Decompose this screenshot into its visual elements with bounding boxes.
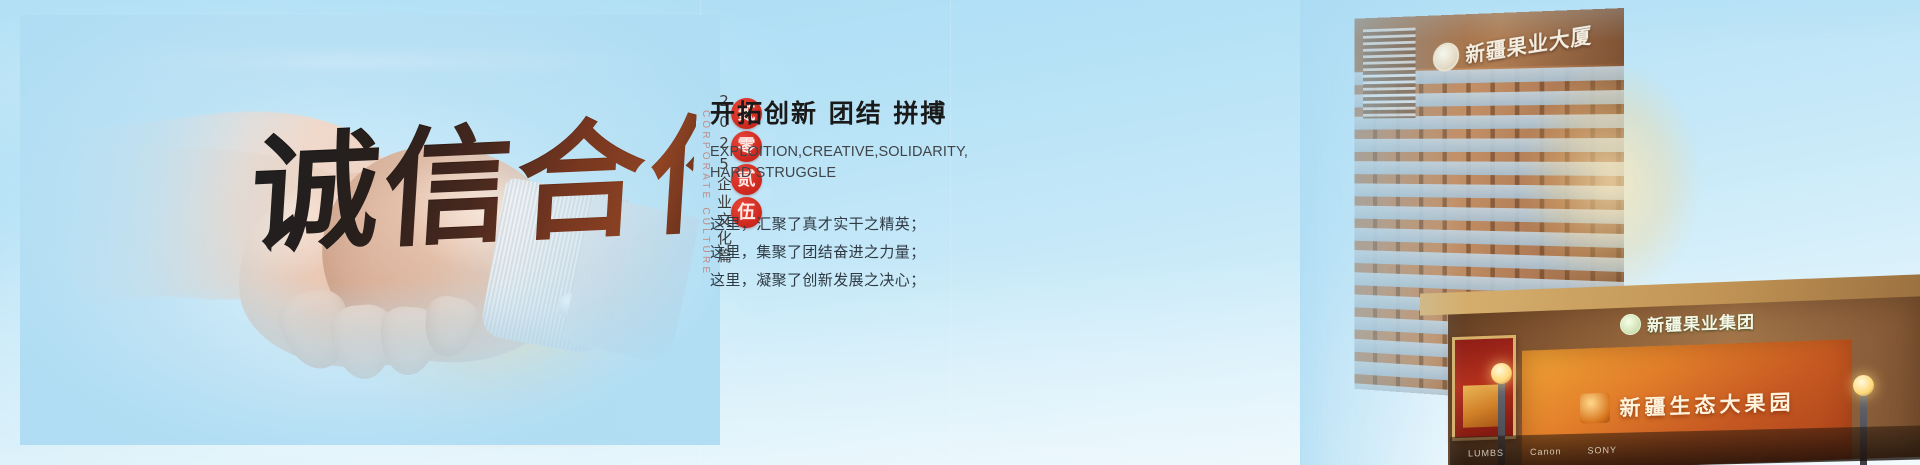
finger-2 [329,302,397,381]
cloud-streak [0,52,760,68]
body-line-3: 这里，凝聚了创新发展之决心； [710,266,1030,294]
billboard-seal-icon [1580,393,1610,424]
shop-label-2: Canon [1530,446,1562,457]
billboard: 新疆生态大果园 [1522,339,1852,465]
tower-sign-text: 新疆果业大厦 [1465,18,1592,70]
finger-4 [418,292,481,362]
shop-label-1: LUMBS [1468,448,1504,459]
handshake-photo [60,55,680,405]
forearm-left [51,94,400,308]
podium-body [1448,280,1920,465]
shirt-sleeve [562,195,701,365]
building-sun-flare [1496,60,1726,360]
hand-left [230,163,486,378]
finger-1 [274,284,359,376]
building-sky-blend-mask [1300,0,1920,465]
shirt-cuff [479,177,635,357]
tower-body: 新疆果业大厦 [1355,8,1624,408]
sun-glow [360,205,700,445]
shop-label-3: SONY [1588,445,1618,456]
street-poster [1452,335,1516,441]
ground-floor-shops: LUMBS Canon SONY [1450,425,1920,465]
body-line-2: 这里，集聚了团结奋进之力量； [710,238,1030,266]
street-lamp-right [1860,389,1867,465]
finger-3 [378,305,441,377]
facade-logo-icon [1620,314,1641,336]
tower-window-grid [1355,66,1624,408]
tower-louvers [1363,28,1416,119]
tower-sign: 新疆果业大厦 [1433,10,1613,78]
podium-roof [1420,274,1920,315]
office-building-photo: 新疆果业大厦 新疆果业集团 新疆生态大果园 LUMBS Canon SONY [1300,0,1920,465]
vertical-label-english: CORPORATE CULTURE [700,110,710,276]
slogan-chinese: 开拓创新 团结 拼搏 [710,100,1030,128]
body-line-list: 这里，汇聚了真才实干之精英； 这里，集聚了团结奋进之力量； 这里，凝聚了创新发展… [710,210,1030,294]
calligraphy-text: 诚信合作 [247,102,698,271]
tower-top-trim [1355,8,1624,70]
forearm-right [75,141,385,312]
street-lamp-left [1498,377,1505,465]
body-line-1: 这里，汇聚了真才实干之精英； [710,210,1030,238]
billboard-text: 新疆生态大果园 [1620,386,1795,422]
photo-fade-mask [20,15,720,445]
facade-sign: 新疆果业集团 [1620,308,1755,338]
slogan-text-block: 开拓创新 团结 拼搏 EXPLOITION,CREATIVE,SOLIDARIT… [710,100,1030,294]
facade-sign-text: 新疆果业集团 [1647,308,1755,337]
corporate-culture-banner: 诚信合作 2025企业文化篇 CORPORATE CULTURE 贰 零 贰 伍… [0,0,1920,465]
street-poster-inner [1463,384,1505,427]
company-logo-icon [1433,41,1459,74]
cuff-button [556,291,586,321]
calligraphy-headline: 诚信合作 [252,112,692,312]
hand-right [311,135,582,375]
slogan-english: EXPLOITION,CREATIVE,SOLIDARITY, HARD STR… [710,142,920,184]
